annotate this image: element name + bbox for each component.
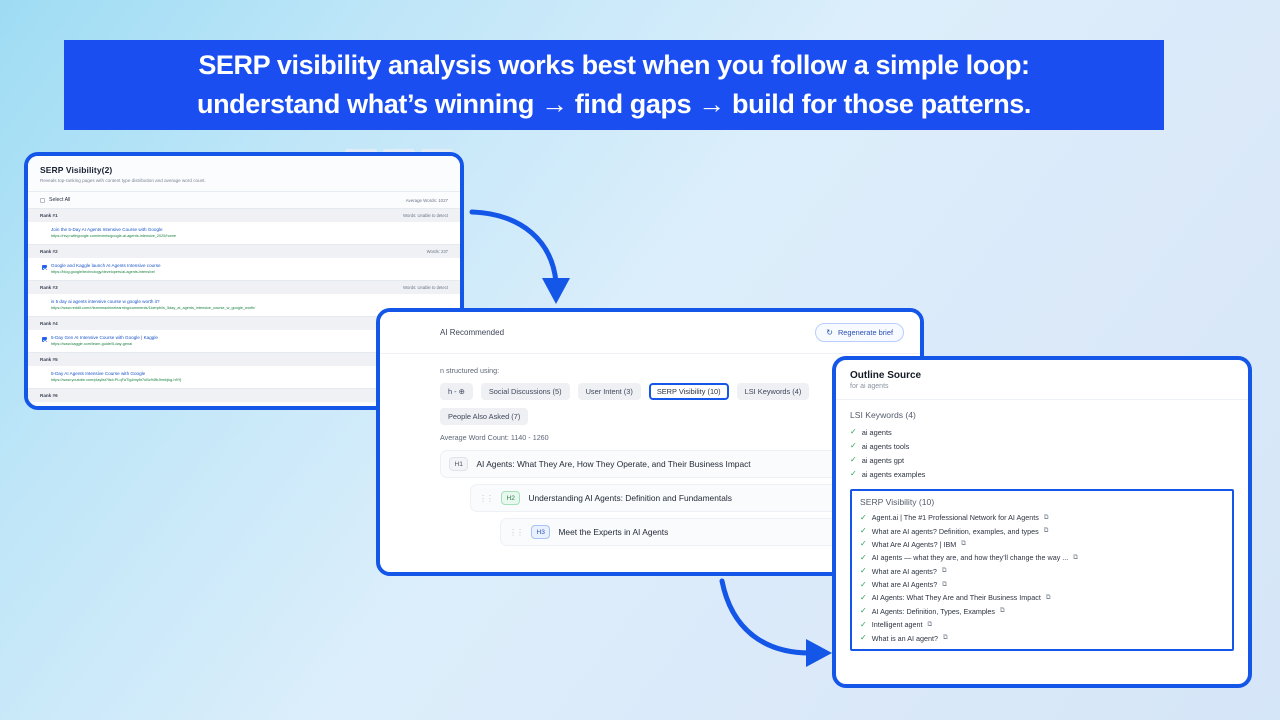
result-url[interactable]: https://rsvp.withgoogle.com/events/googl…	[51, 233, 176, 239]
serp-visibility-section: SERP Visibility (10) ✓ Agent.ai | The #1…	[850, 489, 1234, 651]
check-icon: ✓	[850, 442, 857, 450]
rank-label: Rank #2	[40, 249, 58, 254]
serp-card-subtitle: Reveals top-ranking pages with content t…	[40, 178, 448, 183]
list-item[interactable]: ✓ Agent.ai | The #1 Professional Network…	[860, 511, 1224, 524]
outline-card-subtitle: for ai agents	[850, 383, 1234, 390]
serp-item-label: What is an AI agent?	[872, 634, 938, 643]
list-item[interactable]: ✓ AI Agents: What They Are and Their Bus…	[860, 591, 1224, 604]
lsi-keyword-label: ai agents tools	[862, 442, 910, 451]
list-item[interactable]: ✓ ai agents tools	[850, 439, 1234, 453]
serp-item-label: AI agents — what they are, and how they’…	[872, 553, 1069, 562]
check-icon: ✓	[860, 554, 867, 562]
check-icon: ✓	[850, 470, 857, 478]
serp-item-label: What are AI agents? Definition, examples…	[872, 527, 1039, 536]
list-item[interactable]: ✓ What are AI Agents? ⧉	[860, 578, 1224, 591]
rank-label: Rank #1	[40, 213, 58, 218]
arrow-card1-to-card2-icon	[468, 200, 588, 320]
tag-lsi-keywords[interactable]: LSI Keywords (4)	[737, 383, 810, 400]
heading-text: Meet the Experts in AI Agents	[558, 527, 831, 537]
drag-handle-icon[interactable]: ⋮⋮	[479, 494, 493, 503]
lsi-keywords-section-title: LSI Keywords (4)	[850, 410, 1234, 420]
external-link-icon[interactable]: ⧉	[943, 634, 948, 642]
arrow-card2-to-card3-icon	[714, 575, 844, 675]
tag-social-discussions[interactable]: Social Discussions (5)	[481, 383, 570, 400]
regenerate-brief-button[interactable]: ↻ Regenerate brief	[815, 323, 904, 342]
tag-search[interactable]: h - ⊕	[440, 383, 473, 400]
ai-recommended-label: AI Recommended	[440, 328, 504, 337]
select-all-label: Select All	[49, 197, 70, 203]
heading-level-badge: H2	[501, 491, 520, 505]
list-item[interactable]: ✓ What is an AI agent? ⧉	[860, 631, 1224, 644]
tag-people-also-asked[interactable]: People Also Asked (7)	[440, 408, 528, 425]
headline-line-2: understand what’s winning → find gaps → …	[197, 85, 1031, 124]
rank-header: Rank #2 Words: 237	[28, 244, 460, 258]
list-item[interactable]: ✓ AI Agents: Definition, Types, Examples…	[860, 605, 1224, 618]
result-url[interactable]: https://www.reddit.com/r/learnmachinelea…	[51, 305, 255, 311]
check-icon: ✓	[860, 527, 867, 535]
rank-words: Words: Unable to detect	[403, 213, 448, 218]
check-icon: ✓	[860, 594, 867, 602]
rank-label: Rank #5	[40, 357, 58, 362]
rank-header: Rank #3 Words: Unable to detect	[28, 280, 460, 294]
outline-source-card: Outline Source for ai agents LSI Keyword…	[832, 356, 1252, 688]
serp-card-header: SERP Visibility(2) Reveals top-ranking p…	[28, 156, 460, 191]
result-url[interactable]: https://blog.google/technology/developer…	[51, 269, 161, 275]
outline-card-header: Outline Source for ai agents	[836, 360, 1248, 400]
external-link-icon[interactable]: ⧉	[942, 567, 947, 575]
headline-banner: SERP visibility analysis works best when…	[64, 40, 1164, 130]
list-item[interactable]: ✓ ai agents examples	[850, 467, 1234, 481]
external-link-icon[interactable]: ⧉	[1044, 514, 1049, 522]
select-all-checkbox[interactable]	[40, 198, 45, 203]
check-icon: ✓	[850, 428, 857, 436]
external-link-icon[interactable]: ⧉	[961, 540, 966, 548]
check-icon: ✓	[850, 456, 857, 464]
check-icon: ✓	[860, 514, 867, 522]
serp-visibility-section-title: SERP Visibility (10)	[860, 497, 1224, 507]
brief-toolbar: AI Recommended ↻ Regenerate brief	[380, 312, 920, 354]
serp-item-label: What Are AI Agents? | IBM	[872, 540, 957, 549]
list-item[interactable]: ✓ What Are AI Agents? | IBM ⧉	[860, 538, 1224, 551]
serp-item-label: What are AI agents?	[872, 567, 937, 576]
check-icon: ✓	[860, 540, 867, 548]
external-link-icon[interactable]: ⧉	[1000, 607, 1005, 615]
drag-handle-icon[interactable]: ⋮⋮	[509, 528, 523, 537]
list-item[interactable]: ✓ What are AI agents? Definition, exampl…	[860, 524, 1224, 537]
result-url[interactable]: https://www.kaggle.com/learn-guide/5-day…	[51, 341, 158, 347]
tag-serp-visibility[interactable]: SERP Visibility (10)	[649, 383, 729, 400]
lsi-keyword-label: ai agents	[862, 428, 892, 437]
heading-level-badge: H3	[531, 525, 550, 539]
serp-item-label: Intelligent agent	[872, 620, 923, 629]
list-item[interactable]: ✓ Intelligent agent ⧉	[860, 618, 1224, 631]
average-words-label: Average Words: 1027	[406, 198, 448, 203]
list-item[interactable]: ✓ ai agents	[850, 425, 1234, 439]
check-icon: ✓	[860, 634, 867, 642]
lsi-keyword-label: ai agents examples	[862, 470, 926, 479]
select-all-row: Select All Average Words: 1027	[28, 192, 460, 208]
list-item[interactable]: ✓ What are AI agents? ⧉	[860, 565, 1224, 578]
serp-visibility-list: ✓ Agent.ai | The #1 Professional Network…	[860, 511, 1224, 645]
external-link-icon[interactable]: ⧉	[1046, 594, 1051, 602]
serp-item-label: AI Agents: Definition, Types, Examples	[872, 607, 995, 616]
rank-header: Rank #1 Words: Unable to detect	[28, 208, 460, 222]
rank-words: Words: Unable to detect	[403, 285, 448, 290]
serp-item-label: AI Agents: What They Are and Their Busin…	[872, 593, 1041, 602]
external-link-icon[interactable]: ⧉	[942, 581, 947, 589]
result-checkbox[interactable]	[42, 337, 47, 342]
result-checkbox[interactable]	[42, 265, 47, 270]
rank-label: Rank #4	[40, 321, 58, 326]
serp-item-label: Agent.ai | The #1 Professional Network f…	[872, 513, 1039, 522]
check-icon: ✓	[860, 567, 867, 575]
heading-text: Understanding AI Agents: Definition and …	[528, 493, 831, 503]
heading-text: AI Agents: What They Are, How They Opera…	[476, 459, 854, 469]
external-link-icon[interactable]: ⧉	[1073, 554, 1078, 562]
rank-words: Words: 237	[427, 249, 448, 254]
refresh-icon: ↻	[826, 329, 833, 337]
outline-card-title: Outline Source	[850, 370, 1234, 381]
result-url[interactable]: https://www.youtube.com/playlist?list=PL…	[51, 377, 181, 383]
serp-result-row[interactable]: Google and Kaggle launch AI Agents Inten…	[28, 258, 460, 280]
serp-card-title: SERP Visibility(2)	[40, 165, 448, 175]
lsi-keyword-label: ai agents gpt	[862, 456, 904, 465]
lsi-keywords-list: ✓ ai agents ✓ ai agents tools ✓ ai agent…	[850, 425, 1234, 481]
serp-item-label: What are AI Agents?	[872, 580, 938, 589]
rank-label: Rank #6	[40, 393, 58, 398]
list-item[interactable]: ✓ AI agents — what they are, and how the…	[860, 551, 1224, 564]
check-icon: ✓	[860, 607, 867, 615]
check-icon: ✓	[860, 621, 867, 629]
external-link-icon[interactable]: ⧉	[1044, 527, 1049, 535]
serp-result-row[interactable]: Join the 5-Day AI Agents Intensive Cours…	[28, 222, 460, 244]
headline-line-1: SERP visibility analysis works best when…	[198, 46, 1029, 85]
regenerate-brief-label: Regenerate brief	[838, 328, 893, 337]
external-link-icon[interactable]: ⧉	[927, 621, 932, 629]
tag-user-intent[interactable]: User Intent (3)	[578, 383, 641, 400]
list-item[interactable]: ✓ ai agents gpt	[850, 453, 1234, 467]
rank-label: Rank #3	[40, 285, 58, 290]
check-icon: ✓	[860, 581, 867, 589]
heading-level-badge: H1	[449, 457, 468, 471]
